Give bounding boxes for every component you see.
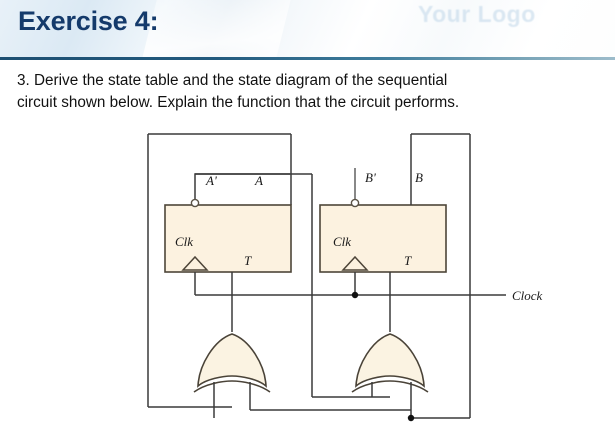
ff-a-clk-label: Clk (175, 234, 193, 249)
question-line-2: circuit shown below. Explain the functio… (17, 92, 602, 114)
ff-a-t-label: T (244, 253, 252, 268)
xor-gate-left (194, 334, 270, 418)
ff-b-clk-label: Clk (333, 234, 351, 249)
wire-a-top-rail (148, 134, 291, 205)
qbar-bubble-b (351, 199, 358, 206)
header-sheen-decoration (136, 0, 294, 60)
question-line-1: 3. Derive the state table and the state … (17, 70, 602, 92)
qbar-bubble-a (191, 199, 198, 206)
wire-bottom-rails (250, 410, 414, 421)
flipflop-b: Clk T (320, 199, 446, 272)
ff-a-qbar-label: A' (205, 173, 217, 188)
clock-junction-dot (352, 292, 358, 298)
clock-bus (195, 272, 506, 298)
question-text: 3. Derive the state table and the state … (17, 70, 602, 114)
circuit-diagram-figure: Clk T A' A Clk T B' B Clock (0, 120, 615, 429)
ff-b-qbar-label: B' (365, 170, 376, 185)
ff-a-q-label: A (254, 173, 263, 188)
ff-b-q-label: B (415, 170, 423, 185)
header-divider-rule (0, 57, 615, 60)
header-watermark-text: Your Logo (418, 2, 548, 54)
ff-b-t-label: T (404, 253, 412, 268)
flipflop-a: Clk T (165, 199, 291, 272)
slide-header: Your Logo Exercise 4: (0, 0, 615, 60)
bottom-junction-dot (408, 415, 414, 421)
xor-gate-right (352, 334, 428, 418)
clock-label: Clock (512, 288, 543, 303)
page-title: Exercise 4: (18, 6, 158, 37)
